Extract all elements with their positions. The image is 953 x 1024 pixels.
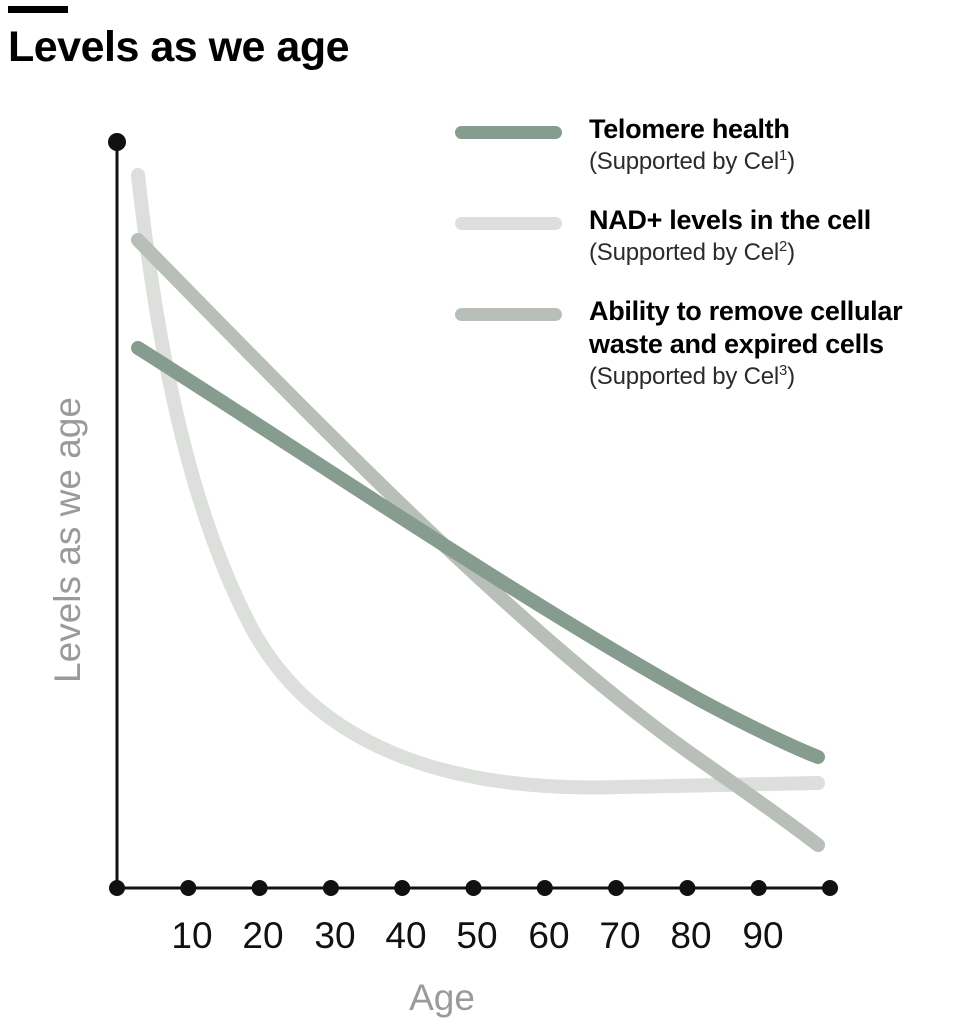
- x-tick-dot-60: [537, 880, 553, 896]
- x-tick-label-30: 30: [314, 915, 355, 956]
- x-tick-label-40: 40: [385, 915, 426, 956]
- x-tick-dot-100: [822, 880, 838, 896]
- series-line-telomere-health: [138, 348, 818, 757]
- chart-page: Levels as we age Telomere health (Suppor…: [0, 0, 953, 1024]
- x-tick-dot-0: [109, 880, 125, 896]
- x-tick-label-70: 70: [599, 915, 640, 956]
- x-tick-dot-20: [252, 880, 268, 896]
- x-tick-label-60: 60: [528, 915, 569, 956]
- x-tick-dot-70: [608, 880, 624, 896]
- x-tick-label-90: 90: [742, 915, 783, 956]
- series-line-cellular-waste: [138, 240, 818, 845]
- x-tick-label-80: 80: [670, 915, 711, 956]
- series-line-nad-levels: [138, 175, 818, 787]
- plot-area: 10 20 30 40 50 60 70 80 90 Age Levels as…: [0, 0, 953, 1024]
- x-tick-label-50: 50: [456, 915, 497, 956]
- x-tick-dot-40: [394, 880, 410, 896]
- x-tick-dot-80: [679, 880, 695, 896]
- x-tick-dot-90: [751, 880, 767, 896]
- x-axis-tick-labels: 10 20 30 40 50 60 70 80 90: [171, 915, 783, 956]
- x-tick-dot-30: [323, 880, 339, 896]
- y-axis-title: Levels as we age: [47, 397, 88, 683]
- x-tick-dot-10: [180, 880, 196, 896]
- x-tick-label-10: 10: [171, 915, 212, 956]
- y-axis-cap-dot: [108, 133, 126, 151]
- x-tick-label-20: 20: [242, 915, 283, 956]
- x-axis-title: Age: [409, 977, 475, 1018]
- x-tick-dot-50: [466, 880, 482, 896]
- chart-svg: 10 20 30 40 50 60 70 80 90 Age Levels as…: [0, 0, 953, 1024]
